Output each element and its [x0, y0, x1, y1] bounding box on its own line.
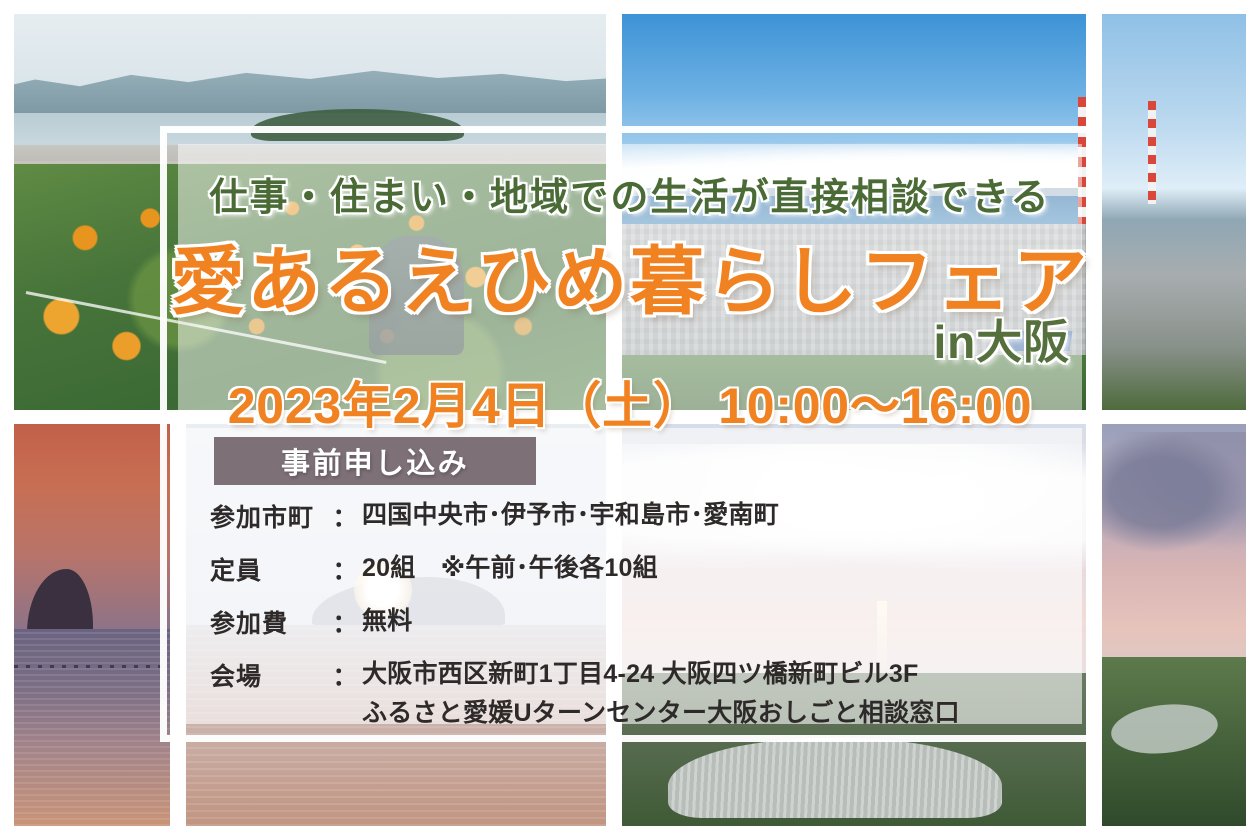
detail-value-main: 四国中央市･伊予市･宇和島市･愛南町: [362, 501, 779, 529]
detail-row-venue: 会場 ： 大阪市西区新町1丁目4-24 大阪四ツ橋新町ビル3F ふるさと愛媛Uタ…: [210, 657, 1090, 730]
detail-value: 大阪市西区新町1丁目4-24 大阪四ツ橋新町ビル3F ふるさと愛媛Uターンセンタ…: [362, 657, 960, 730]
detail-colon: ：: [328, 604, 362, 640]
detail-label: 会場: [210, 657, 328, 693]
detail-row-participating-municipalities: 参加市町 ： 四国中央市･伊予市･宇和島市･愛南町: [210, 498, 1090, 534]
detail-label: 参加市町: [210, 498, 328, 534]
event-poster: 仕事・住まい・地域での生活が直接相談できる 愛あるえひめ暮らしフェア in大阪 …: [0, 0, 1260, 840]
lead-tagline: 仕事・住まい・地域での生活が直接相談できる: [0, 166, 1260, 221]
advance-registration-badge: 事前申し込み: [214, 437, 536, 485]
detail-value-line2: ふるさと愛媛Uターンセンター大阪おしごと相談窓口: [362, 696, 960, 731]
detail-value-main: 20組: [362, 554, 416, 582]
text-layer: 仕事・住まい・地域での生活が直接相談できる 愛あるえひめ暮らしフェア in大阪 …: [0, 0, 1260, 840]
location-suffix: in大阪: [0, 306, 1070, 372]
details-list: 参加市町 ： 四国中央市･伊予市･宇和島市･愛南町 定員 ： 20組 ※午前･午…: [210, 498, 1090, 747]
detail-colon: ：: [328, 657, 362, 693]
detail-colon: ：: [328, 498, 362, 534]
detail-row-fee: 参加費 ： 無料: [210, 604, 1090, 640]
detail-value-note: ※午前･午後各10組: [441, 554, 658, 582]
advance-registration-badge-label: 事前申し込み: [281, 440, 469, 482]
detail-value: 20組 ※午前･午後各10組: [362, 551, 658, 586]
detail-value-main: 無料: [362, 607, 413, 635]
event-datetime: 2023年2月4日（土） 10:00〜16:00: [0, 366, 1260, 438]
detail-label: 参加費: [210, 604, 328, 640]
detail-value-main: 大阪市西区新町1丁目4-24 大阪四ツ橋新町ビル3F: [362, 660, 919, 688]
detail-colon: ：: [328, 551, 362, 587]
detail-label: 定員: [210, 551, 328, 587]
detail-row-capacity: 定員 ： 20組 ※午前･午後各10組: [210, 551, 1090, 587]
detail-value: 四国中央市･伊予市･宇和島市･愛南町: [362, 498, 779, 533]
detail-value: 無料: [362, 604, 413, 639]
